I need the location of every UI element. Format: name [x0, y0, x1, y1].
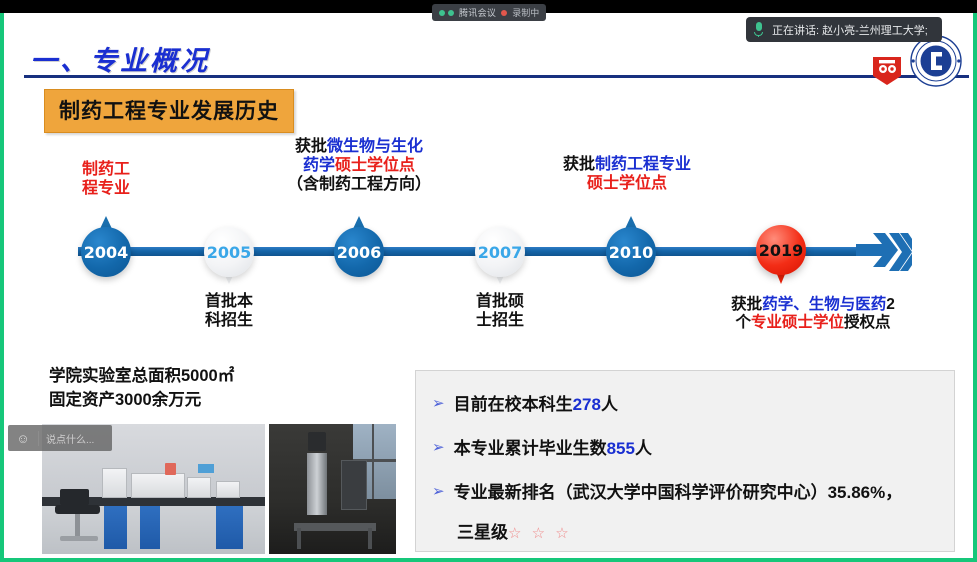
label-seg: 硕士学位点 [335, 157, 415, 174]
facility-area-unit: ㎡ [218, 367, 235, 385]
label-seg: 专业硕士学位 [751, 314, 844, 331]
timeline-marker-2010-label: 2010 [606, 227, 656, 277]
timeline-axis-line [78, 247, 868, 256]
facility-stats-text: 学院实验室总面积5000㎡ 固定资产3000余万元 [49, 365, 234, 413]
timeline-arrow-icon [856, 231, 912, 273]
timeline-marker-2019[interactable]: 2019 [756, 225, 806, 275]
label-seg: 获批 [295, 138, 327, 155]
active-speaker-chip[interactable]: 正在讲话: 赵小亮-兰州理工大学; [746, 17, 942, 42]
statistics-panel: ➢ 目前在校本科生278人 ➢ 本专业累计毕业生数855人 ➢ 专业最新排名（武… [415, 370, 955, 552]
statistic-text: 专业最新排名（武汉大学中国科学评价研究中心）35.86%， [454, 481, 903, 506]
label-seg: 2 [886, 296, 895, 313]
presentation-slide: 一、专业概况 制药工程专业发展历史 2004 [4, 13, 973, 558]
text-seg: 人 [635, 439, 652, 458]
active-speaker-label: 正在讲话: 赵小亮-兰州理工大学; [772, 22, 928, 38]
label-seg: 药学、生物与医药 [762, 296, 886, 313]
value-seg: 278 [573, 395, 601, 414]
subtitle-banner-label: 制药工程专业发展历史 [59, 100, 279, 123]
university-seal-logo [910, 35, 962, 87]
meeting-status-chip[interactable]: 腾讯会议 录制中 [432, 4, 546, 21]
timeline-marker-2006-label: 2006 [334, 227, 384, 277]
subtitle-banner: 制药工程专业发展历史 [44, 89, 294, 133]
title-underline-rule [24, 75, 969, 78]
chat-input-bar[interactable]: ☺ 说点什么... [8, 425, 112, 451]
chat-input-placeholder[interactable]: 说点什么... [39, 431, 94, 446]
recording-dot-icon [501, 10, 507, 16]
timeline: 2004 2005 2006 2007 2010 2019 制药工 程专业 [4, 133, 973, 358]
facility-assets-line: 固定资产3000余万元 [49, 389, 234, 413]
timeline-marker-2010[interactable]: 2010 [606, 227, 656, 277]
statistic-bullet-undergrad: ➢ 目前在校本科生278人 [432, 393, 618, 418]
statistic-text: 三星级☆ ☆ ☆ [457, 521, 572, 546]
statistic-text: 本专业累计毕业生数855人 [454, 437, 652, 462]
lab-photo-bioreactor [269, 424, 396, 554]
label-seg: （含制药工程方向） [287, 176, 431, 193]
text-seg: 三星级 [457, 523, 508, 542]
star-rating-icon: ☆ ☆ ☆ [508, 525, 572, 542]
meeting-dots-icon [439, 10, 454, 16]
statistic-bullet-stars: 三星级☆ ☆ ☆ [457, 521, 572, 546]
label-seg: 微生物与生化 [327, 138, 423, 155]
statistic-text: 目前在校本科生278人 [454, 393, 618, 418]
value-seg: 855 [607, 439, 635, 458]
label-seg: 获批 [563, 156, 595, 173]
bullet-arrow-icon: ➢ [432, 440, 445, 455]
label-seg: 程专业 [82, 180, 130, 197]
statistic-bullet-graduates: ➢ 本专业累计毕业生数855人 [432, 437, 652, 462]
timeline-marker-2005-label: 2005 [204, 227, 254, 277]
label-seg: 授权点 [844, 314, 891, 331]
page-title: 一、专业概况 [30, 39, 210, 78]
label-seg: 首批硕 [476, 293, 524, 310]
timeline-marker-2004-label: 2004 [81, 227, 131, 277]
timeline-marker-2007-label: 2007 [475, 227, 525, 277]
institution-red-logo [870, 53, 904, 87]
meeting-app-name: 腾讯会议 [459, 6, 496, 19]
bullet-arrow-icon: ➢ [432, 396, 445, 411]
microphone-icon [754, 22, 763, 37]
label-seg: 制药工 [82, 161, 130, 178]
timeline-marker-2019-label: 2019 [756, 225, 806, 275]
timeline-label-2005: 首批本 科招生 [189, 293, 269, 331]
label-seg: 科招生 [205, 312, 253, 329]
label-seg: 个 [735, 314, 751, 331]
text-seg: 专业最新排名（武汉大学中国科学评价研究中心）35.86%， [454, 483, 903, 502]
timeline-label-2010: 获批制药工程专业 硕士学位点 [521, 156, 733, 194]
timeline-label-2006: 获批微生物与生化 药学硕士学位点 （含制药工程方向） [254, 138, 464, 195]
smiley-icon[interactable]: ☺ [8, 431, 38, 446]
timeline-label-2004: 制药工 程专业 [67, 161, 145, 199]
bullet-arrow-icon: ➢ [432, 484, 445, 499]
timeline-marker-2007[interactable]: 2007 [475, 227, 525, 277]
timeline-marker-2004[interactable]: 2004 [81, 227, 131, 277]
text-seg: 本专业累计毕业生数 [454, 439, 607, 458]
text-seg: 人 [601, 395, 618, 414]
label-seg: 首批本 [205, 293, 253, 310]
facility-area-value: 5000 [181, 367, 218, 385]
text-seg: 目前在校本科生 [454, 395, 573, 414]
statistic-bullet-ranking: ➢ 专业最新排名（武汉大学中国科学评价研究中心）35.86%， [432, 481, 902, 506]
label-seg: 获批 [731, 296, 762, 313]
timeline-marker-2005[interactable]: 2005 [204, 227, 254, 277]
timeline-marker-2006[interactable]: 2006 [334, 227, 384, 277]
facility-line1-prefix: 学院实验室总面积 [49, 367, 181, 385]
timeline-label-2019: 获批药学、生物与医药2 个专业硕士学位授权点 [668, 296, 958, 333]
recording-label: 录制中 [512, 6, 539, 19]
timeline-label-2007: 首批硕 士招生 [460, 293, 540, 331]
label-seg: 士招生 [476, 312, 524, 329]
label-seg: 制药工程专业 [595, 156, 691, 173]
label-seg: 药学 [303, 157, 335, 174]
label-seg: 硕士学位点 [587, 175, 667, 192]
